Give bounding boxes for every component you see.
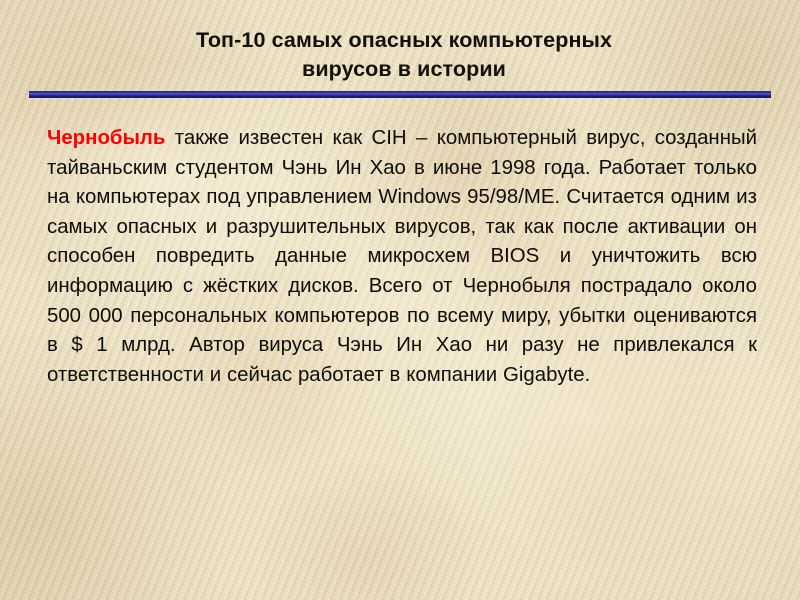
- slide-title-block: Топ-10 самых опасных компьютерных вирусо…: [48, 26, 760, 84]
- presentation-slide: Топ-10 самых опасных компьютерных вирусо…: [0, 0, 800, 600]
- page-title: Топ-10 самых опасных компьютерных вирусо…: [48, 26, 760, 84]
- slide-body-block: Чернобыль также известен как CIH – компь…: [47, 124, 757, 390]
- body-paragraph-text: также известен как CIH – компьютерный ви…: [47, 127, 757, 386]
- title-divider-rule: [29, 91, 771, 98]
- lead-term-chernobyl: Чернобыль: [47, 127, 165, 149]
- body-paragraph: Чернобыль также известен как CIH – компь…: [47, 124, 757, 390]
